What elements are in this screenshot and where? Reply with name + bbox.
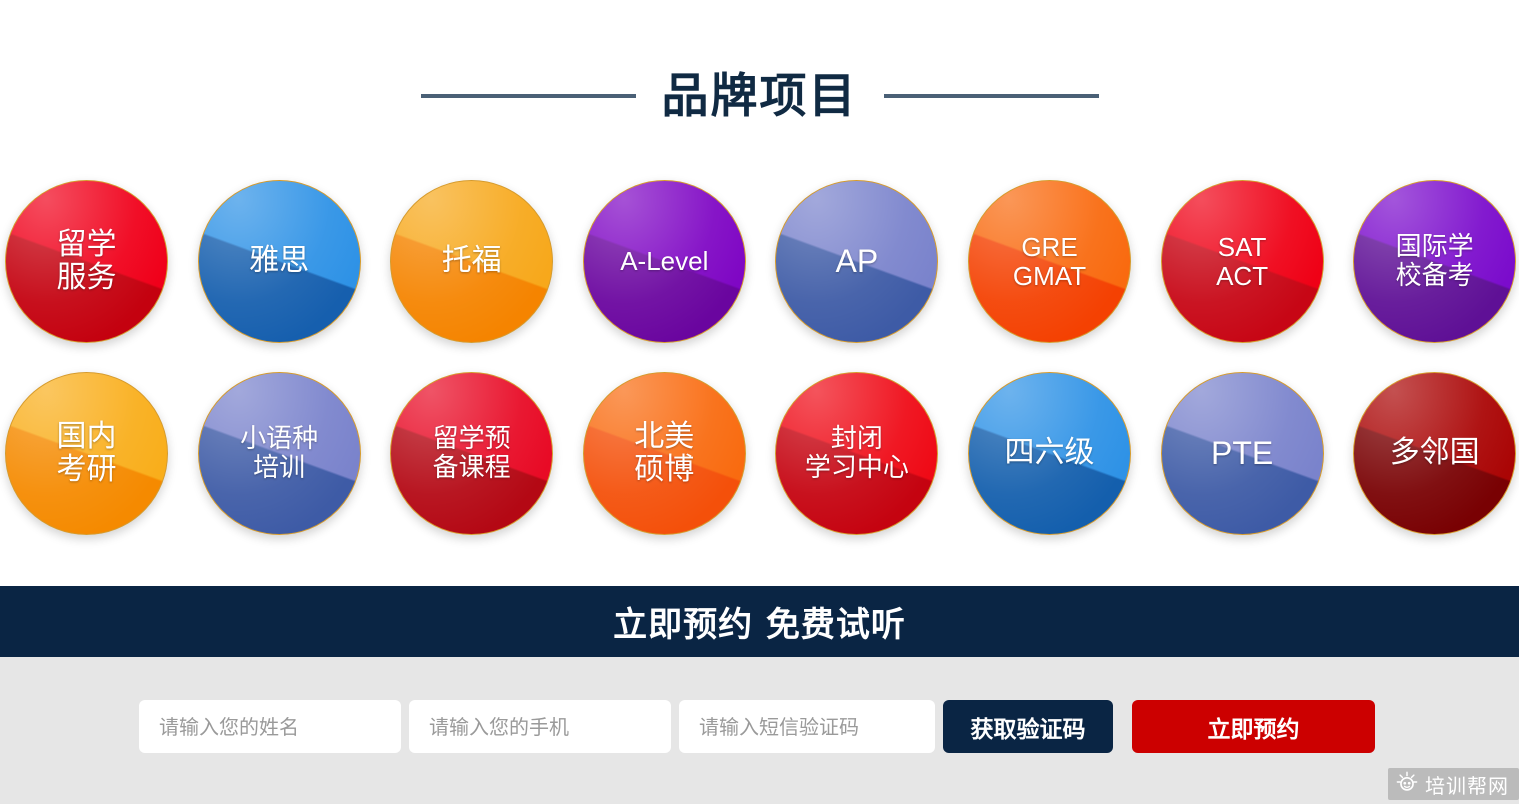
program-label: GRE GMAT — [1007, 233, 1092, 289]
decorative-rule-left — [421, 94, 636, 98]
program-label: 留学 服务 — [51, 229, 123, 294]
program-label: 雅思 — [243, 245, 315, 277]
program-circle[interactable]: 留学预 备课程 — [390, 372, 553, 535]
program-circle[interactable]: 雅思 — [198, 180, 361, 343]
cta-banner-text: 立即预约 免费试听 — [613, 597, 906, 646]
program-label: 北美 硕博 — [628, 421, 700, 486]
sun-eye-icon — [1396, 771, 1418, 798]
decorative-rule-right — [884, 94, 1099, 98]
program-label: 封闭 学习中心 — [799, 425, 915, 481]
program-label: A-Level — [614, 247, 714, 275]
program-row-1: 留学 服务雅思托福A-LevelAPGRE GMATSAT ACT国际学 校备考 — [0, 180, 1519, 372]
get-verification-code-button[interactable]: 获取验证码 — [943, 700, 1113, 753]
program-label: 国内 考研 — [51, 421, 123, 486]
sms-code-input[interactable] — [679, 700, 935, 753]
program-label: PTE — [1205, 436, 1279, 471]
phone-input[interactable] — [409, 700, 671, 753]
program-circle[interactable]: A-Level — [583, 180, 746, 343]
program-circle[interactable]: 封闭 学习中心 — [775, 372, 938, 535]
program-grid: 留学 服务雅思托福A-LevelAPGRE GMATSAT ACT国际学 校备考… — [0, 180, 1519, 564]
program-circle[interactable]: 国内 考研 — [5, 372, 168, 535]
program-circle[interactable]: 多邻国 — [1353, 372, 1516, 535]
program-circle[interactable]: 四六级 — [968, 372, 1131, 535]
name-input[interactable] — [139, 700, 401, 753]
program-circle[interactable]: 国际学 校备考 — [1353, 180, 1516, 343]
program-circle[interactable]: SAT ACT — [1161, 180, 1324, 343]
program-circle[interactable]: 小语种 培训 — [198, 372, 361, 535]
brand-programs-page: 品牌项目 留学 服务雅思托福A-LevelAPGRE GMATSAT ACT国际… — [0, 0, 1519, 804]
program-label: 留学预 备课程 — [427, 425, 517, 481]
section-header: 品牌项目 — [0, 56, 1519, 136]
program-circle[interactable]: PTE — [1161, 372, 1324, 535]
program-label: 托福 — [436, 245, 508, 277]
booking-form: 获取验证码 立即预约 — [139, 700, 1375, 753]
book-now-button[interactable]: 立即预约 — [1132, 700, 1375, 753]
program-label: 多邻国 — [1384, 437, 1486, 469]
cta-banner: 立即预约 免费试听 — [0, 586, 1519, 657]
program-label: 小语种 培训 — [234, 425, 324, 481]
site-watermark: 培训帮网 — [1388, 768, 1519, 800]
program-circle[interactable]: 北美 硕博 — [583, 372, 746, 535]
program-row-2: 国内 考研小语种 培训留学预 备课程北美 硕博封闭 学习中心四六级PTE多邻国 — [0, 372, 1519, 564]
program-label: 四六级 — [999, 437, 1101, 469]
program-label: 国际学 校备考 — [1390, 233, 1480, 289]
program-label: SAT ACT — [1210, 233, 1274, 289]
watermark-label: 培训帮网 — [1425, 770, 1509, 799]
program-circle[interactable]: GRE GMAT — [968, 180, 1131, 343]
page-title: 品牌项目 — [662, 73, 858, 120]
program-circle[interactable]: 留学 服务 — [5, 180, 168, 343]
program-circle[interactable]: AP — [775, 180, 938, 343]
program-label: AP — [830, 244, 885, 279]
booking-form-strip: 获取验证码 立即预约 — [0, 657, 1519, 804]
program-circle[interactable]: 托福 — [390, 180, 553, 343]
